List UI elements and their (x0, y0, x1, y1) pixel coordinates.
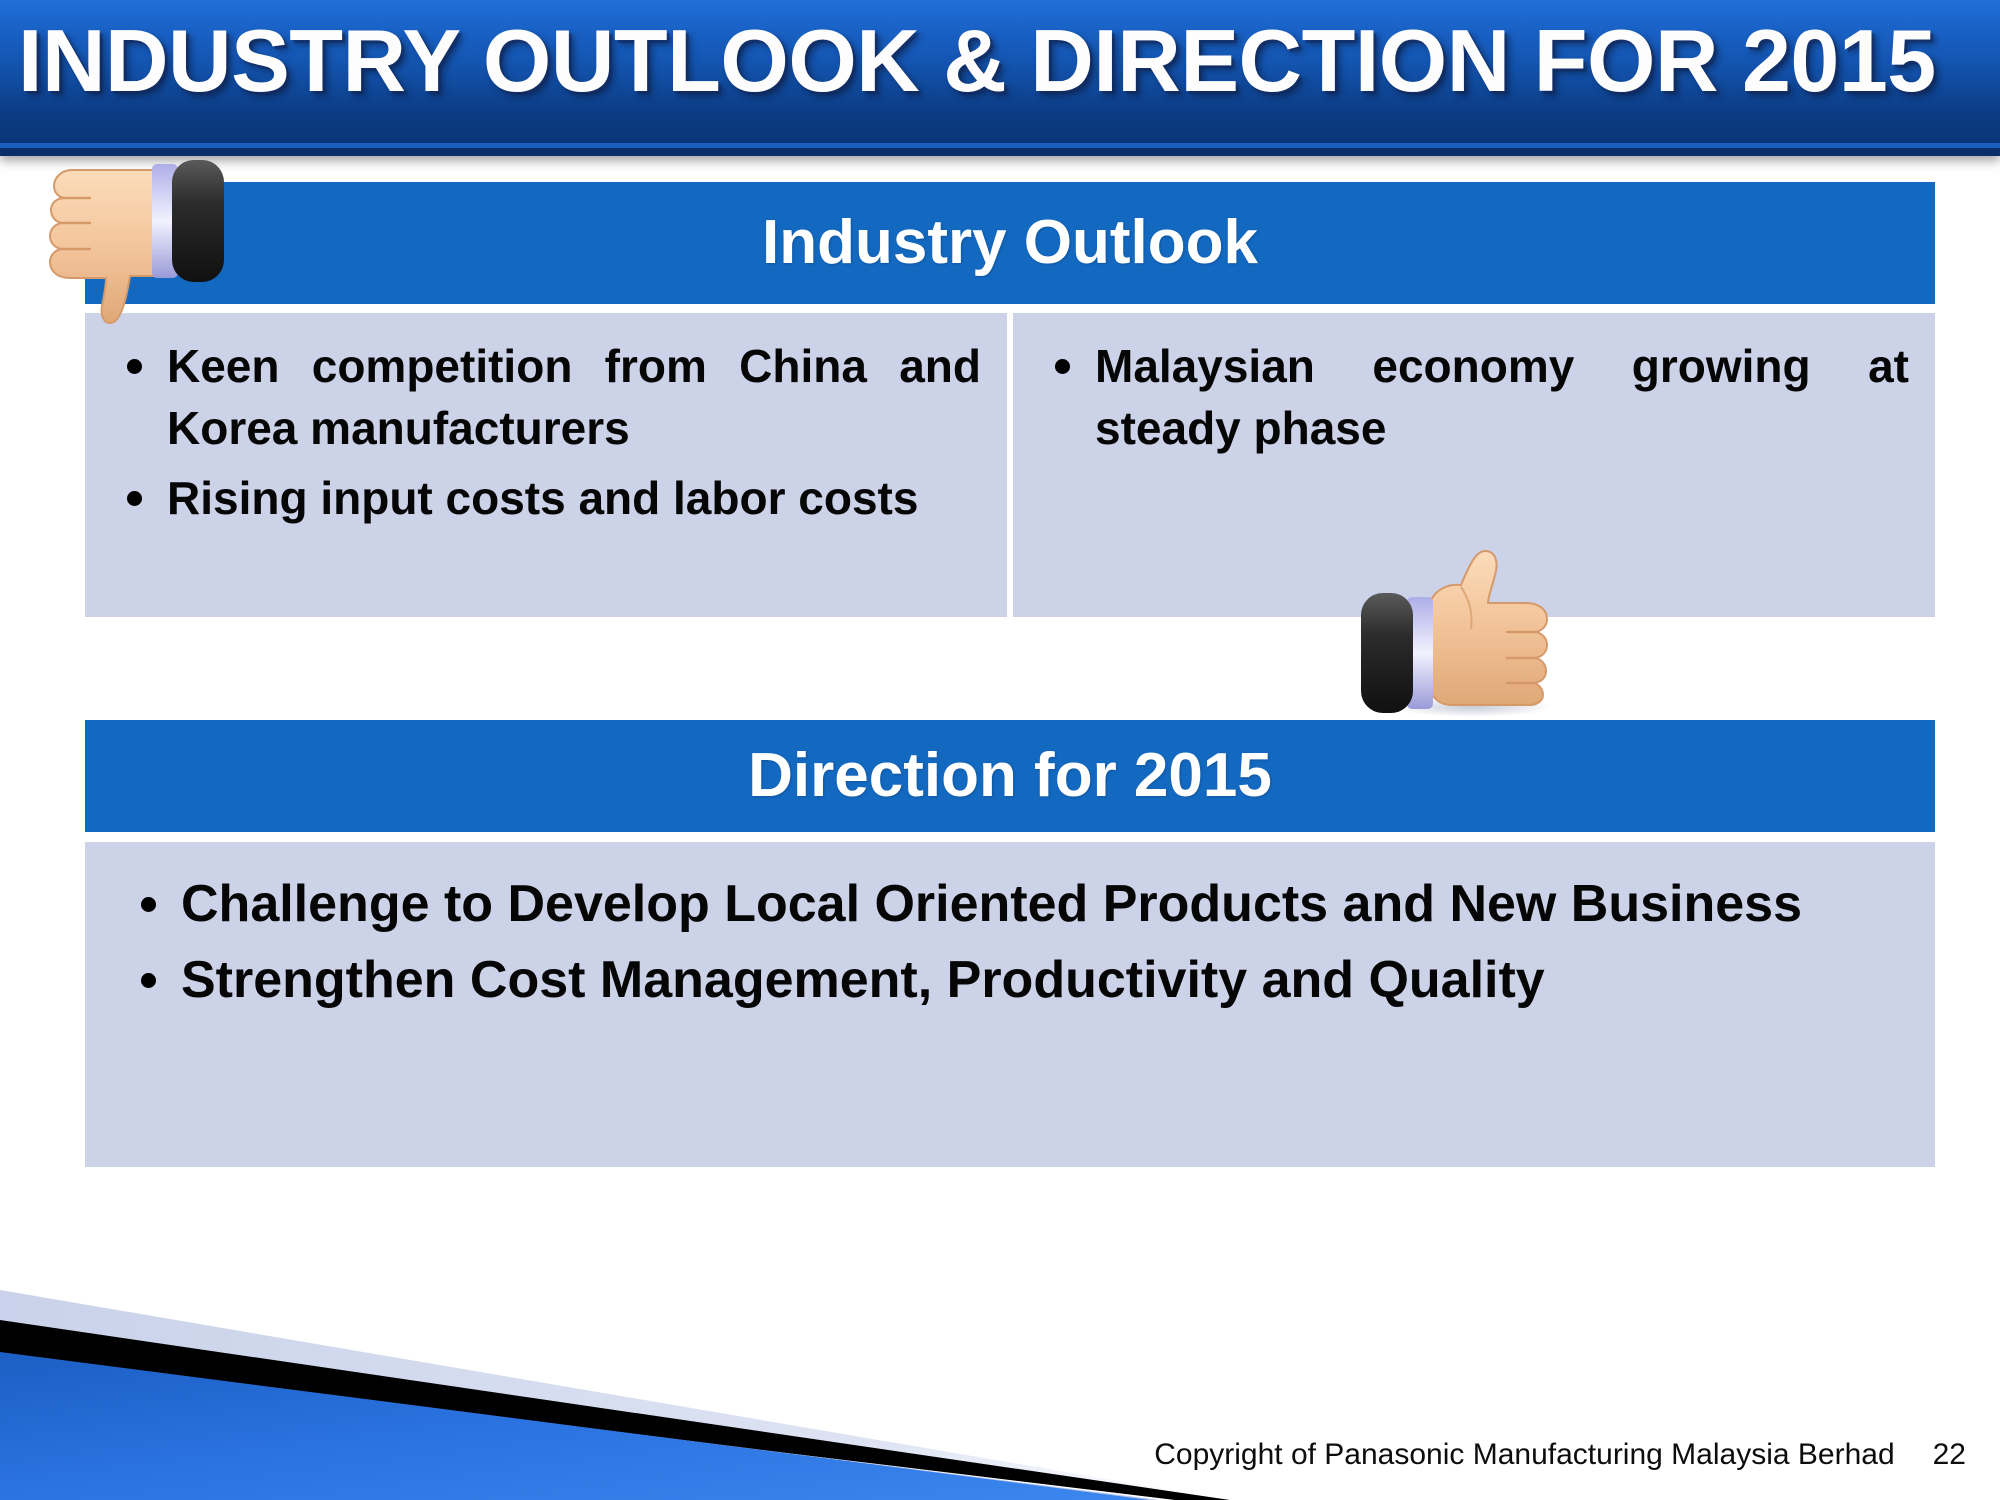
page-number: 22 (1933, 1438, 1966, 1471)
page-title: INDUSTRY OUTLOOK & DIRECTION FOR 2015 (18, 6, 1936, 116)
outlook-negatives-list: Keen competition from China and Korea ma… (111, 335, 981, 529)
direction-2015-header: Direction for 2015 (85, 720, 1935, 832)
list-item: Keen competition from China and Korea ma… (111, 335, 981, 459)
bottom-left-decoration (0, 1220, 1230, 1500)
direction-2015-section: Direction for 2015 Challenge to Develop … (85, 720, 1935, 1167)
outlook-positives-list: Malaysian economy growing at steady phas… (1039, 335, 1909, 459)
slide-footer: Copyright of Panasonic Manufacturing Mal… (1154, 1438, 1966, 1472)
slide-title-bar: INDUSTRY OUTLOOK & DIRECTION FOR 2015 (0, 0, 2000, 156)
outlook-positives-column: Malaysian economy growing at steady phas… (1013, 313, 1935, 617)
industry-outlook-body: Keen competition from China and Korea ma… (85, 313, 1935, 617)
list-item: Challenge to Develop Local Oriented Prod… (125, 870, 1895, 938)
list-item: Malaysian economy growing at steady phas… (1039, 335, 1909, 459)
industry-outlook-header: Industry Outlook (85, 182, 1935, 304)
list-item: Strengthen Cost Management, Productivity… (125, 946, 1895, 1014)
direction-2015-list: Challenge to Develop Local Oriented Prod… (125, 870, 1895, 1014)
outlook-negatives-column: Keen competition from China and Korea ma… (85, 313, 1007, 617)
direction-2015-body: Challenge to Develop Local Oriented Prod… (85, 842, 1935, 1167)
list-item: Rising input costs and labor costs (111, 467, 981, 529)
industry-outlook-section: Industry Outlook Keen competition from C… (85, 182, 1935, 617)
copyright-text: Copyright of Panasonic Manufacturing Mal… (1154, 1438, 1894, 1471)
